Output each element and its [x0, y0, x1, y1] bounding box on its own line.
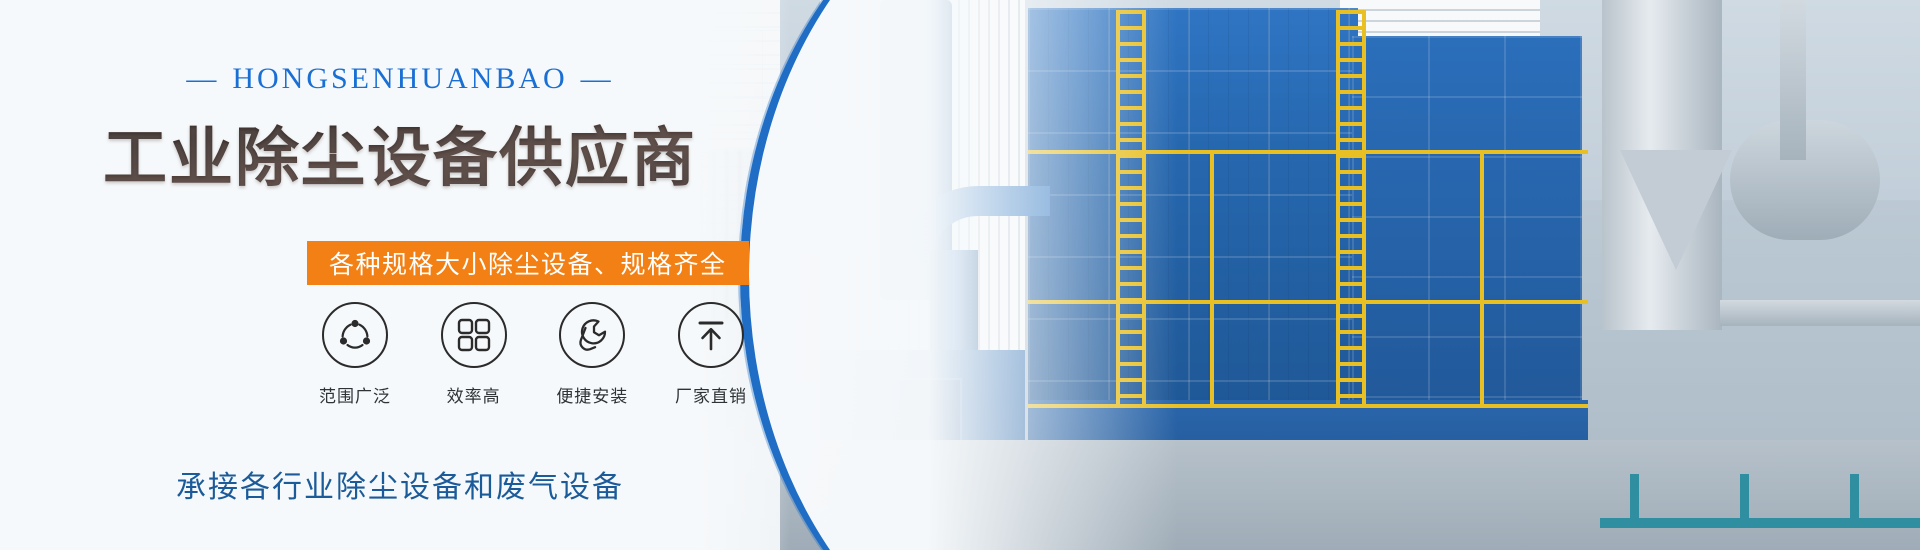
feature-label: 便捷安装	[556, 382, 628, 407]
brand-eyebrow: —HONGSENHUANBAO—	[0, 62, 800, 96]
cyclone-cone	[1620, 150, 1732, 270]
concrete-ground	[780, 440, 1920, 550]
feature-item-efficiency[interactable]: 效率高	[422, 302, 526, 407]
fence-post	[1630, 474, 1639, 528]
yellow-ladder-left	[1116, 10, 1146, 408]
hero-banner: —HONGSENHUANBAO— 工业除尘设备供应商 各种规格大小除尘设备、规格…	[0, 0, 1920, 550]
feature-list: 范围广泛 效率高	[303, 302, 763, 407]
yellow-ladder-right	[1336, 10, 1366, 408]
baghouse-panel-grid	[1028, 8, 1358, 408]
teal-fence-rail	[1600, 518, 1920, 528]
highlight-bar-label: 各种规格大小除尘设备、规格齐全	[329, 245, 727, 281]
feature-item-range[interactable]: 范围广泛	[303, 302, 407, 407]
dash-right: —	[568, 62, 627, 96]
grid-squares-icon	[441, 302, 507, 368]
brand-name-latin: HONGSENHUANBAO	[232, 62, 567, 95]
dust-collector-photo	[780, 0, 1920, 550]
wrench-icon	[559, 302, 625, 368]
highlight-bar: 各种规格大小除尘设备、规格齐全	[307, 241, 749, 285]
fence-post	[1850, 474, 1859, 528]
tagline: 承接各行业除尘设备和废气设备	[0, 462, 800, 506]
feature-label: 效率高	[447, 382, 501, 407]
fence-post	[1740, 474, 1749, 528]
page-title: 工业除尘设备供应商	[0, 107, 800, 199]
feature-item-installation[interactable]: 便捷安装	[540, 302, 644, 407]
dash-left: —	[173, 62, 232, 96]
feature-label: 厂家直销	[675, 382, 747, 407]
horizontal-pipe	[1720, 300, 1920, 326]
network-nodes-icon	[322, 302, 388, 368]
yellow-handrail	[1028, 150, 1588, 154]
banner-content: —HONGSENHUANBAO— 工业除尘设备供应商 各种规格大小除尘设备、规格…	[0, 0, 820, 550]
yellow-stanchion	[1210, 150, 1214, 404]
yellow-handrail	[1028, 404, 1588, 408]
vertical-pipe	[1780, 0, 1806, 160]
feature-item-factory-direct[interactable]: 厂家直销	[659, 302, 763, 407]
yellow-handrail	[1028, 300, 1588, 304]
baghouse-panel-grid-secondary	[1352, 36, 1582, 408]
yellow-stanchion	[1480, 150, 1484, 404]
feature-label: 范围广泛	[319, 382, 391, 407]
arrow-up-icon	[678, 302, 744, 368]
